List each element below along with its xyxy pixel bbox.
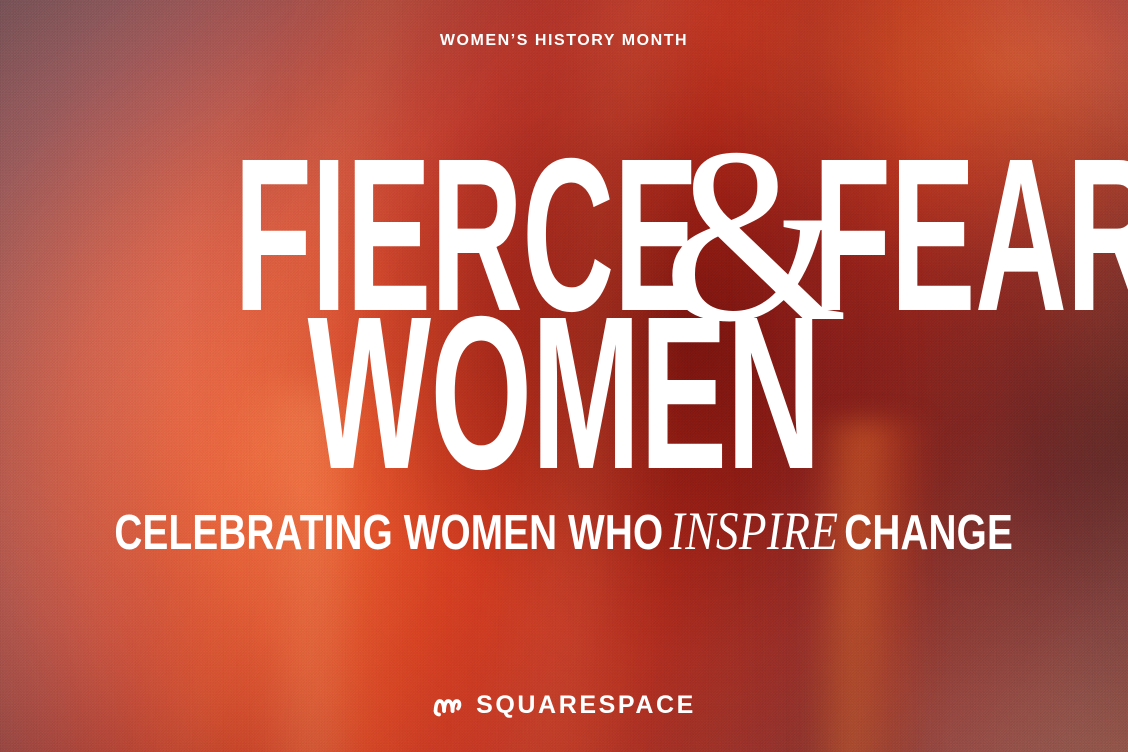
subheadline: CELEBRATING WOMEN WHO INSPIRE CHANGE — [115, 500, 1014, 562]
squarespace-logo-lockup: SQUARESPACE — [432, 693, 696, 718]
headline: FIERCE&FEARLESS WOMEN — [0, 112, 1128, 452]
squarespace-loops-icon — [432, 693, 463, 718]
subheadline-after: CHANGE — [845, 506, 1014, 560]
banner-content: WOMEN’S HISTORY MONTH FIERCE&FEARLESS WO… — [0, 0, 1128, 752]
womens-history-month-banner: WOMEN’S HISTORY MONTH FIERCE&FEARLESS WO… — [0, 0, 1128, 752]
headline-line-2: WOMEN — [226, 294, 903, 452]
squarespace-wordmark: SQUARESPACE — [476, 693, 696, 718]
eyebrow-label: WOMEN’S HISTORY MONTH — [440, 32, 688, 50]
headline-line-1: FIERCE&FEARLESS — [234, 112, 894, 270]
subheadline-emphasis: INSPIRE — [670, 500, 839, 562]
subheadline-before: CELEBRATING WOMEN WHO — [115, 506, 664, 560]
